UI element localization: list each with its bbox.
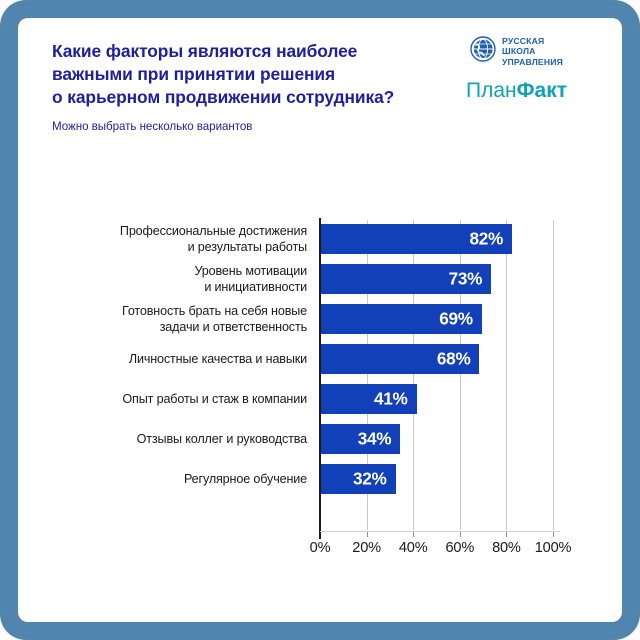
bar-value-label: 82% — [470, 229, 504, 250]
category-label-line: Готовность брать на себя новые — [18, 303, 307, 319]
category-label-line: Регулярное обучение — [18, 471, 307, 487]
category-label-line: и инициативности — [18, 279, 307, 295]
category-label-line: и результаты работы — [18, 239, 307, 255]
x-axis-tick — [319, 531, 321, 539]
x-axis-label: 60% — [445, 540, 474, 556]
category-label: Опыт работы и стаж в компании — [18, 391, 307, 407]
bar-value-label: 32% — [353, 469, 387, 490]
x-axis-label: 100% — [535, 540, 572, 556]
x-axis-label: 40% — [399, 540, 428, 556]
chart-row: Регулярное обучение32% — [18, 464, 622, 494]
poster-card: Какие факторы являются наиболее важными … — [18, 18, 622, 622]
x-axis-label: 0% — [310, 540, 331, 556]
chart-row: Профессиональные достиженияи результаты … — [18, 224, 622, 254]
chart-row: Отзывы коллег и руководства34% — [18, 424, 622, 454]
chart-row: Готовность брать на себя новыезадачи и о… — [18, 304, 622, 334]
planfakt-plan: План — [466, 79, 517, 102]
bar: 82% — [321, 224, 512, 254]
page-subtitle: Можно выбрать несколько вариантов — [52, 120, 602, 134]
category-label-line: Отзывы коллег и руководства — [18, 431, 307, 447]
title-line-3: о карьерном продвижении сотрудника? — [52, 86, 432, 109]
bar-value-label: 41% — [374, 389, 408, 410]
category-label-line: Опыт работы и стаж в компании — [18, 391, 307, 407]
bar-value-label: 69% — [439, 309, 473, 330]
rsu-line-1: РУССКАЯ — [502, 36, 563, 46]
chart-row: Личностные качества и навыки68% — [18, 344, 622, 374]
x-axis-baseline — [320, 531, 560, 532]
rsu-logo: РУССКАЯ ШКОЛА УПРАВЛЕНИЯ — [450, 36, 600, 67]
chart-row: Опыт работы и стаж в компании41% — [18, 384, 622, 414]
category-label-line: Уровень мотивации — [18, 263, 307, 279]
page-title: Какие факторы являются наиболее важными … — [52, 40, 432, 109]
bar: 32% — [321, 464, 396, 494]
bar: 41% — [321, 384, 417, 414]
chart-row: Уровень мотивациии инициативности73% — [18, 264, 622, 294]
category-label: Профессиональные достиженияи результаты … — [18, 223, 307, 255]
bar: 73% — [321, 264, 491, 294]
plot-area: 0%20%40%60%80%100%Профессиональные дости… — [18, 198, 622, 538]
category-label: Готовность брать на себя новыезадачи и о… — [18, 303, 307, 335]
x-axis-label: 20% — [352, 540, 381, 556]
bar: 69% — [321, 304, 482, 334]
title-line-1: Какие факторы являются наиболее — [52, 40, 432, 63]
rsu-line-3: УПРАВЛЕНИЯ — [502, 57, 563, 67]
category-label: Уровень мотивациии инициативности — [18, 263, 307, 295]
category-label: Личностные качества и навыки — [18, 351, 307, 367]
category-label: Регулярное обучение — [18, 471, 307, 487]
poster-frame: Какие факторы являются наиболее важными … — [0, 0, 640, 640]
bar-value-label: 73% — [449, 269, 483, 290]
bar-value-label: 34% — [358, 429, 392, 450]
planfakt-logo: ПланФакт — [450, 79, 600, 103]
bar-value-label: 68% — [437, 349, 471, 370]
x-axis-label: 80% — [492, 540, 521, 556]
rsu-line-2: ШКОЛА — [502, 46, 563, 56]
category-label: Отзывы коллег и руководства — [18, 431, 307, 447]
title-line-2: важными при принятии решения — [52, 63, 432, 86]
category-label-line: Личностные качества и навыки — [18, 351, 307, 367]
rsu-logo-text: РУССКАЯ ШКОЛА УПРАВЛЕНИЯ — [502, 36, 563, 67]
bar-chart: 0%20%40%60%80%100%Профессиональные дости… — [18, 198, 622, 578]
bar: 68% — [321, 344, 479, 374]
planfakt-fakt: Факт — [517, 79, 567, 102]
category-label-line: Профессиональные достижения — [18, 223, 307, 239]
globe-icon — [470, 36, 496, 67]
category-label-line: задачи и ответственность — [18, 319, 307, 335]
bar: 34% — [321, 424, 400, 454]
logo-group: РУССКАЯ ШКОЛА УПРАВЛЕНИЯ ПланФакт — [450, 36, 600, 103]
